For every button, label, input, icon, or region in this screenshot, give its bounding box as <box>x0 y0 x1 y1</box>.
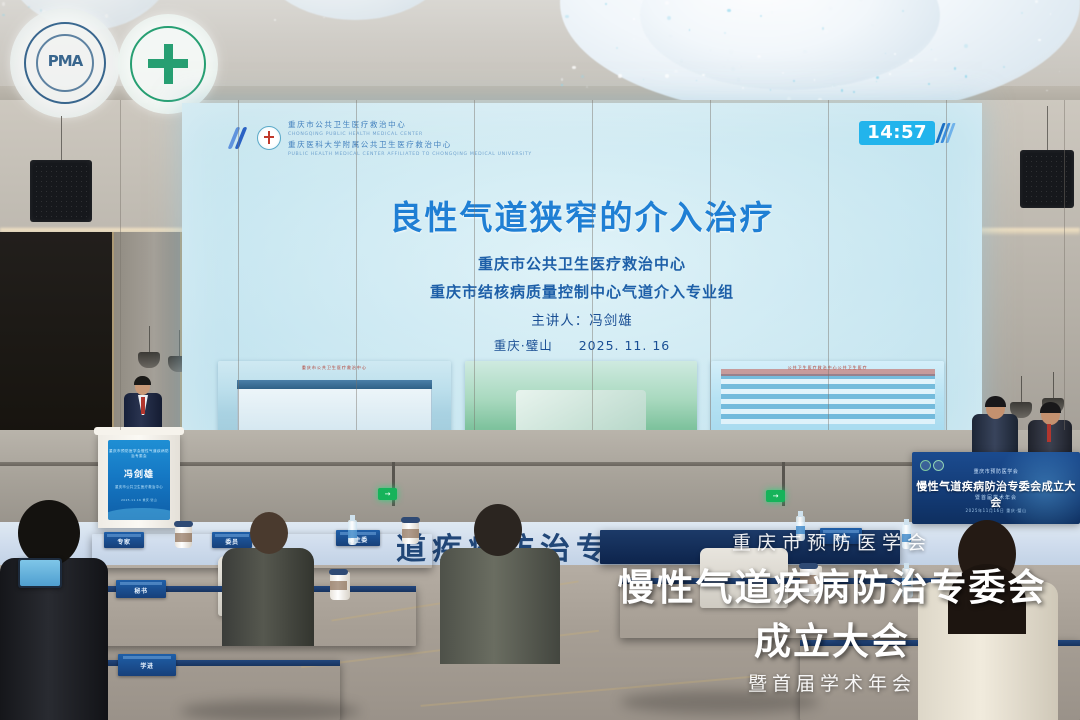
hanging-speaker-right <box>1020 150 1074 208</box>
wall-panel-seam <box>1064 100 1065 430</box>
podium-speaker-name: 冯剑雄 <box>108 467 170 480</box>
wall-panel-seam <box>946 100 947 430</box>
panel-banner-line4: 2025年11月16日 重庆·璧山 <box>912 508 1080 514</box>
exit-sign-left-icon: → <box>378 488 397 500</box>
panel-banner-line1: 重庆市预防医学会 <box>912 468 1080 475</box>
audience-person-3 <box>0 500 108 720</box>
water-bottle-1 <box>348 520 357 545</box>
name-placard-3: 副主委 <box>336 530 380 546</box>
overlay-line3: 暨首届学术年会 <box>602 669 1062 696</box>
green-cross-horizontal <box>148 59 188 68</box>
wall-panel-seam <box>238 100 239 430</box>
hanging-speaker-left <box>30 160 92 222</box>
slide-header-line2-en: PUBLIC HEALTH MEDICAL CENTER AFFILIATED … <box>288 152 532 157</box>
coffee-cup-2 <box>402 520 419 544</box>
panel-table-banner: 重庆市预防医学会 慢性气道疾病防治专委会成立大会 暨首届学术年会 2025年11… <box>912 452 1080 524</box>
coffee-cup-1 <box>175 524 192 548</box>
panelist-lanyard <box>1047 424 1051 442</box>
smartphone-recording[interactable] <box>18 558 62 588</box>
slash-mark-icon <box>230 127 250 149</box>
wall-panel-seam <box>710 100 711 430</box>
slide-photo-1-caption: 重庆市公共卫生医疗救治中心 <box>218 365 451 371</box>
panelist-left <box>972 396 1018 456</box>
overlay-line1: 重庆市预防医学会 <box>602 528 1062 555</box>
podium-affiliation: 重庆市公共卫生医疗救治中心 <box>108 484 170 489</box>
podium-footer: 2025.11.16 重庆·璧山 <box>108 498 170 502</box>
exit-sign-right-icon: → <box>766 490 785 502</box>
wall-panel-seam <box>120 100 121 430</box>
overlay-title-block: 重庆市预防医学会 慢性气道疾病防治专委会成立大会 暨首届学术年会 <box>602 528 1062 696</box>
conference-hall-photo: PMA 重庆市公共卫生医疗救治中心 CHONGQING PUBLIC HEALT… <box>0 0 1080 720</box>
podium-header-text: 重庆市预防医学会慢性气道疾病防治专委会 <box>108 449 170 459</box>
wall-dark-recess <box>0 232 118 432</box>
name-placard-6: 学进 <box>118 654 176 676</box>
slide-presenter: 主讲人：冯剑雄 <box>182 309 982 329</box>
podium-display-wave <box>108 508 170 520</box>
presentation-timer: 14:57 <box>859 121 954 145</box>
wall-panel-seam <box>592 100 593 430</box>
slide-subtitle-1: 重庆市公共卫生医疗救治中心 <box>182 253 982 274</box>
slide-location: 重庆·璧山 <box>494 338 553 353</box>
wall-panel-seam <box>356 100 357 430</box>
wall-panel-seam <box>474 100 475 430</box>
pillar-trim-left <box>112 232 114 432</box>
logo-pma-monogram: PMA <box>10 52 120 70</box>
slide-title: 良性气道狭窄的介入治疗 <box>182 191 982 239</box>
slide-header: 重庆市公共卫生医疗救治中心 CHONGQING PUBLIC HEALTH ME… <box>230 119 532 157</box>
slide-header-line1-en: CHONGQING PUBLIC HEALTH MEDICAL CENTER <box>288 132 532 137</box>
timer-value: 14:57 <box>859 121 935 145</box>
audience-person-1 <box>222 512 314 646</box>
name-placard-1: 专家 <box>104 532 144 548</box>
slide-header-line2: 重庆医科大学附属公共卫生医疗救治中心 <box>288 139 532 150</box>
audience-person-2 <box>440 504 560 664</box>
floor-shadow-1 <box>180 700 360 720</box>
overlay-line2: 慢性气道疾病防治专委会成立大会 <box>602 557 1062 665</box>
wall-panel-seam <box>828 100 829 430</box>
led-presentation-screen: 重庆市公共卫生医疗救治中心 CHONGQING PUBLIC HEALTH ME… <box>182 103 982 465</box>
panelist-right <box>1028 402 1072 458</box>
medical-emblem-icon <box>257 126 281 150</box>
slide-location-date: 重庆·璧山2025. 11. 16 <box>182 335 982 354</box>
slide-subtitle-2: 重庆市结核病质量控制中心气道介入专业组 <box>182 281 982 302</box>
coffee-cup-3 <box>330 572 350 600</box>
podium-display: 重庆市预防医学会慢性气道疾病防治专委会 冯剑雄 重庆市公共卫生医疗救治中心 20… <box>108 440 170 520</box>
name-placard-5: 秘书 <box>116 580 166 598</box>
logo-chongqing-preventive-medicine-association: PMA <box>10 8 120 118</box>
panel-banner-line3: 暨首届学术年会 <box>912 494 1080 501</box>
slide-header-line1: 重庆市公共卫生医疗救治中心 <box>288 119 532 130</box>
podium-top-surface <box>94 427 184 435</box>
logo-affiliated-hospital-cqmu <box>118 14 218 114</box>
podium: 重庆市预防医学会慢性气道疾病防治专委会 冯剑雄 重庆市公共卫生医疗救治中心 20… <box>98 432 180 528</box>
